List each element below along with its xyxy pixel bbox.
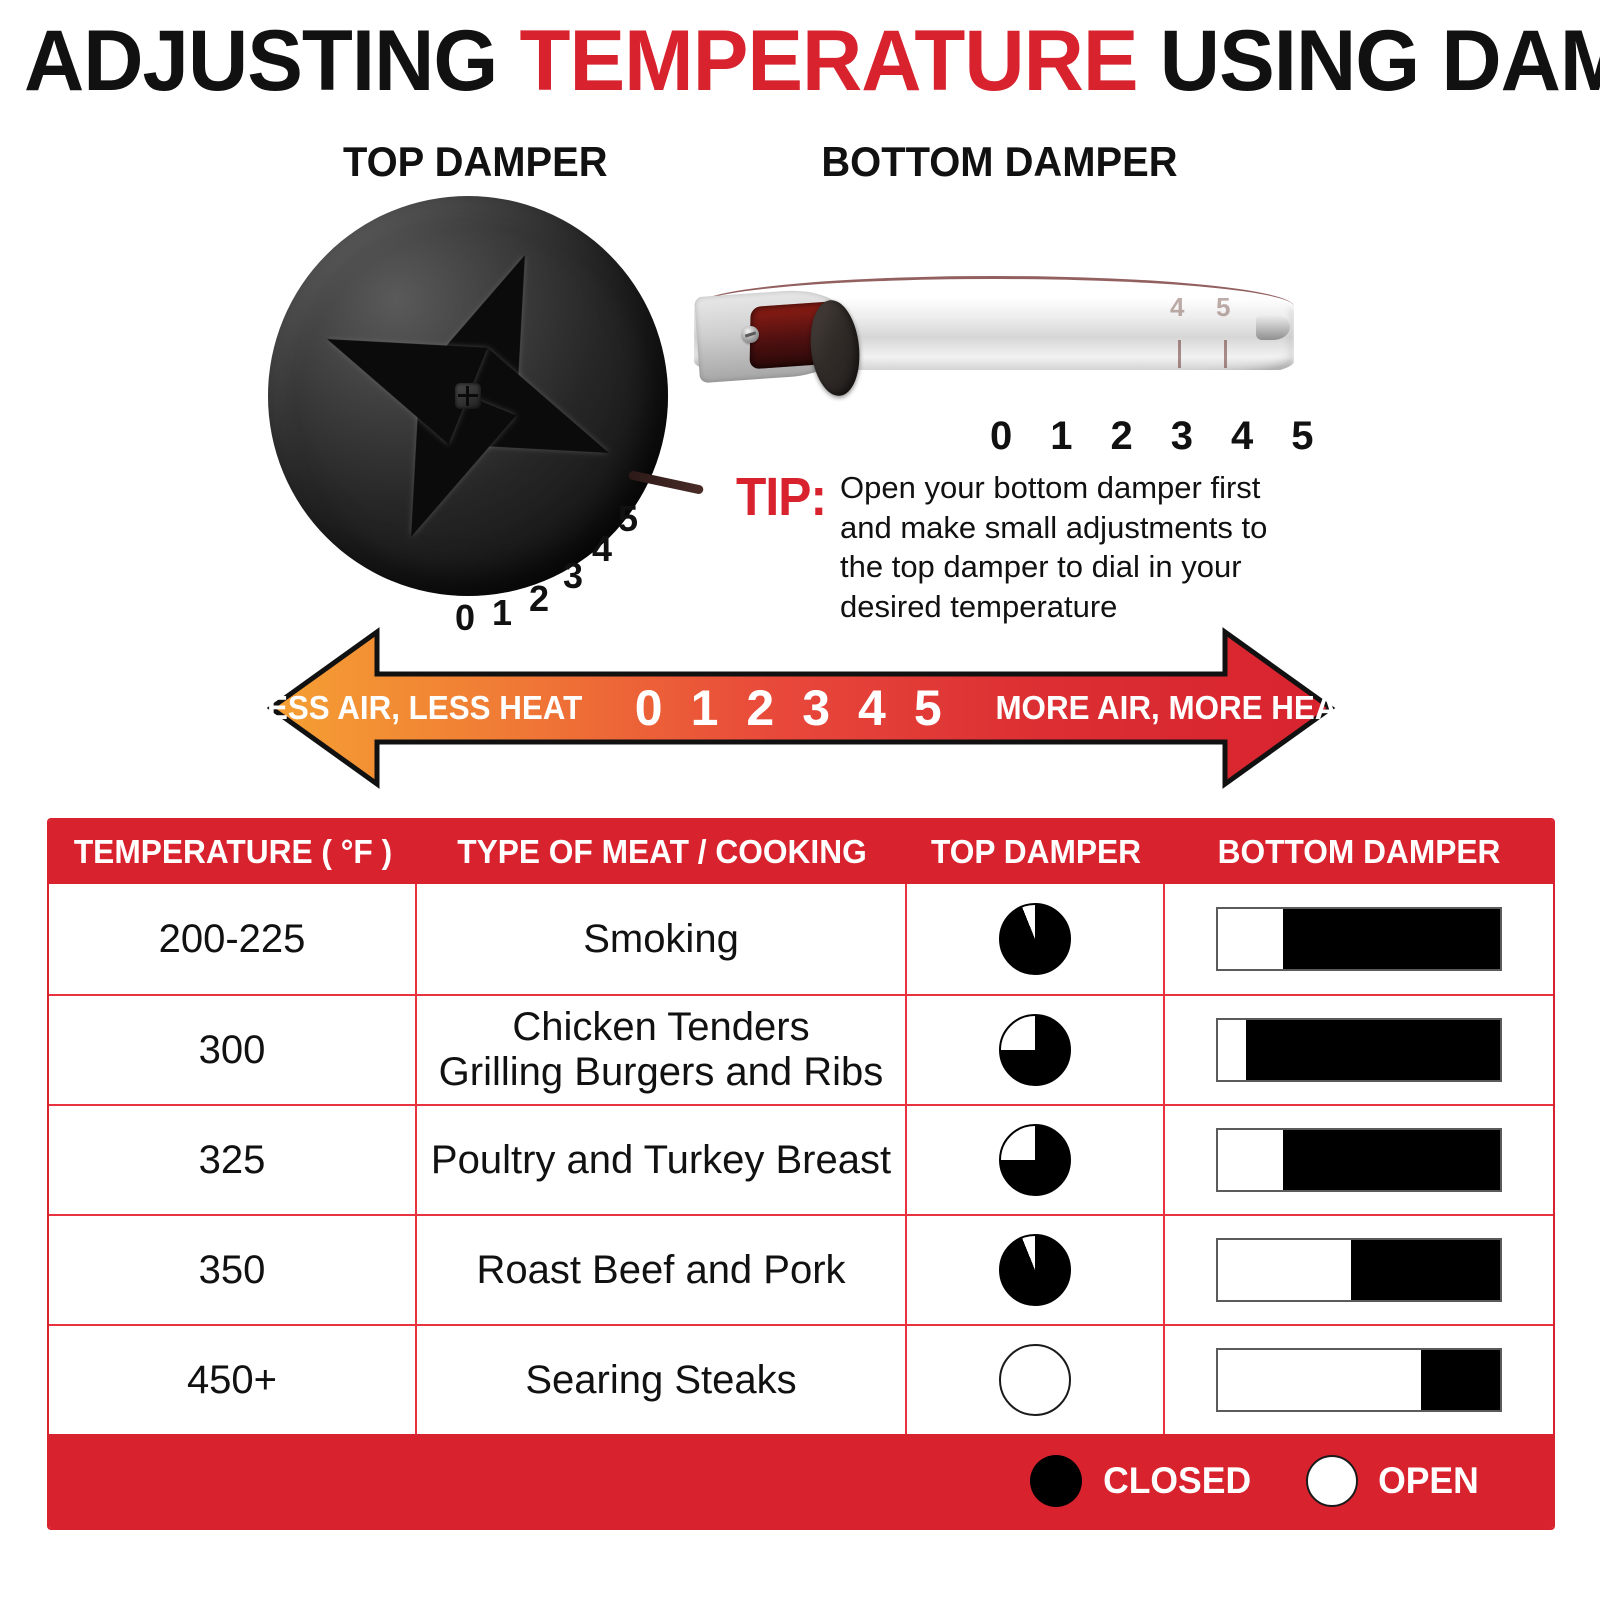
cell-meat: Smoking bbox=[417, 884, 907, 994]
damper-embossed-tick-icon bbox=[1178, 340, 1181, 368]
top-damper-scale-number: 2 bbox=[529, 578, 549, 620]
damper-screw-icon bbox=[742, 326, 759, 343]
bottom-damper-scale-number: 2 bbox=[1111, 414, 1133, 459]
cell-top-damper bbox=[907, 1106, 1165, 1214]
table-row: 325Poultry and Turkey Breast bbox=[49, 1104, 1553, 1214]
bottom-damper-scale: 012345 bbox=[990, 414, 1314, 459]
top-damper-scale-number: 5 bbox=[618, 498, 638, 540]
page-title: ADJUSTING TEMPERATURE USING DAMPERS bbox=[24, 18, 1576, 104]
meat-value: Roast Beef and Pork bbox=[476, 1248, 845, 1293]
damper-settings-table: TEMPERATURE ( °F ) TYPE OF MEAT / COOKIN… bbox=[47, 818, 1555, 1530]
bottom-damper-scale-number: 0 bbox=[990, 414, 1012, 459]
top-damper-pie-icon bbox=[999, 903, 1071, 975]
legend-closed: CLOSED bbox=[1030, 1455, 1254, 1507]
bottom-damper-open-segment bbox=[1218, 1130, 1283, 1190]
cell-meat: Poultry and Turkey Breast bbox=[417, 1106, 907, 1214]
damper-embossed-number: 4 bbox=[1170, 292, 1184, 323]
meat-value: Searing Steaks bbox=[525, 1358, 796, 1403]
top-damper-heading: TOP DAMPER bbox=[343, 138, 608, 186]
cell-bottom-damper bbox=[1165, 884, 1553, 994]
bottom-damper-bar-icon bbox=[1216, 1018, 1502, 1082]
damper-embossed-number: 5 bbox=[1216, 292, 1230, 323]
heat-scale-arrow: LESS AIR, LESS HEAT 012345 MORE AIR, MOR… bbox=[265, 618, 1337, 798]
cell-meat: Roast Beef and Pork bbox=[417, 1216, 907, 1324]
cell-meat: Chicken TendersGrilling Burgers and Ribs bbox=[417, 996, 907, 1104]
bottom-damper-illustration: 45 bbox=[694, 262, 1294, 412]
cell-temperature: 200-225 bbox=[49, 884, 417, 994]
top-damper-pie-icon bbox=[999, 1234, 1071, 1306]
legend-open: OPEN bbox=[1306, 1455, 1481, 1507]
table-row: 300Chicken TendersGrilling Burgers and R… bbox=[49, 994, 1553, 1104]
top-damper-pie-icon bbox=[999, 1344, 1071, 1416]
table-body: 200-225Smoking300Chicken TendersGrilling… bbox=[49, 884, 1553, 1434]
bottom-damper-heading: BOTTOM DAMPER bbox=[821, 138, 1177, 186]
title-part-1: ADJUSTING bbox=[24, 13, 520, 109]
bottom-damper-bar-icon bbox=[1216, 1128, 1502, 1192]
closed-dot-icon bbox=[1030, 1455, 1082, 1507]
meat-value: Chicken TendersGrilling Burgers and Ribs bbox=[439, 1005, 884, 1095]
temperature-value: 300 bbox=[199, 1028, 266, 1073]
bottom-damper-scale-number: 1 bbox=[1050, 414, 1072, 459]
bottom-damper-bar-icon bbox=[1216, 1348, 1502, 1412]
top-damper-scale-number: 4 bbox=[592, 528, 612, 570]
cell-temperature: 325 bbox=[49, 1106, 417, 1214]
cell-temperature: 350 bbox=[49, 1216, 417, 1324]
cell-bottom-damper bbox=[1165, 1216, 1553, 1324]
meat-value: Poultry and Turkey Breast bbox=[431, 1138, 891, 1183]
legend-closed-label: CLOSED bbox=[1103, 1460, 1251, 1502]
table-row: 200-225Smoking bbox=[49, 884, 1553, 994]
column-header-temperature: TEMPERATURE ( °F ) bbox=[56, 833, 409, 871]
top-damper-scale-number: 3 bbox=[563, 555, 583, 597]
tip-text: Open your bottom damper first and make s… bbox=[840, 468, 1310, 627]
table-legend-footer: CLOSED OPEN bbox=[49, 1434, 1553, 1528]
cell-top-damper bbox=[907, 1326, 1165, 1434]
bottom-damper-open-segment bbox=[1218, 1350, 1421, 1410]
bottom-damper-scale-number: 3 bbox=[1171, 414, 1193, 459]
damper-hub-icon bbox=[455, 383, 481, 409]
cell-temperature: 300 bbox=[49, 996, 417, 1104]
arrow-shape-icon bbox=[265, 618, 1337, 798]
temperature-value: 200-225 bbox=[159, 917, 306, 962]
column-header-meat: TYPE OF MEAT / COOKING bbox=[427, 833, 897, 871]
bottom-damper-open-segment bbox=[1218, 1240, 1351, 1300]
meat-value: Smoking bbox=[583, 917, 739, 962]
top-damper-pie-icon bbox=[999, 1014, 1071, 1086]
bottom-damper-open-segment bbox=[1218, 909, 1283, 969]
column-header-top-damper: TOP DAMPER bbox=[912, 833, 1160, 871]
title-highlight: TEMPERATURE bbox=[520, 13, 1138, 109]
bottom-damper-scale-number: 4 bbox=[1231, 414, 1253, 459]
bottom-damper-bar-icon bbox=[1216, 907, 1502, 971]
cell-top-damper bbox=[907, 1216, 1165, 1324]
temperature-value: 350 bbox=[199, 1248, 266, 1293]
temperature-value: 325 bbox=[199, 1138, 266, 1183]
legend-open-label: OPEN bbox=[1378, 1460, 1479, 1502]
top-damper-pie-icon bbox=[999, 1124, 1071, 1196]
open-dot-icon bbox=[1306, 1455, 1358, 1507]
table-row: 450+Searing Steaks bbox=[49, 1324, 1553, 1434]
bottom-damper-bar-icon bbox=[1216, 1238, 1502, 1302]
temperature-value: 450+ bbox=[187, 1358, 277, 1403]
damper-embossed-tick-icon bbox=[1224, 340, 1227, 368]
cell-bottom-damper bbox=[1165, 996, 1553, 1104]
bottom-damper-open-segment bbox=[1218, 1020, 1246, 1080]
damper-embossed-ticks: 45 bbox=[1152, 292, 1282, 372]
column-header-bottom-damper: BOTTOM DAMPER bbox=[1173, 833, 1545, 871]
cell-top-damper bbox=[907, 884, 1165, 994]
table-row: 350Roast Beef and Pork bbox=[49, 1214, 1553, 1324]
bottom-damper-scale-number: 5 bbox=[1291, 414, 1313, 459]
cell-bottom-damper bbox=[1165, 1106, 1553, 1214]
infographic-page: ADJUSTING TEMPERATURE USING DAMPERS TOP … bbox=[0, 0, 1600, 1600]
cell-temperature: 450+ bbox=[49, 1326, 417, 1434]
cell-top-damper bbox=[907, 996, 1165, 1104]
cell-bottom-damper bbox=[1165, 1326, 1553, 1434]
tip-label: TIP: bbox=[736, 466, 826, 528]
title-part-2: USING DAMPERS bbox=[1138, 13, 1600, 109]
table-header-row: TEMPERATURE ( °F ) TYPE OF MEAT / COOKIN… bbox=[49, 820, 1553, 884]
cell-meat: Searing Steaks bbox=[417, 1326, 907, 1434]
